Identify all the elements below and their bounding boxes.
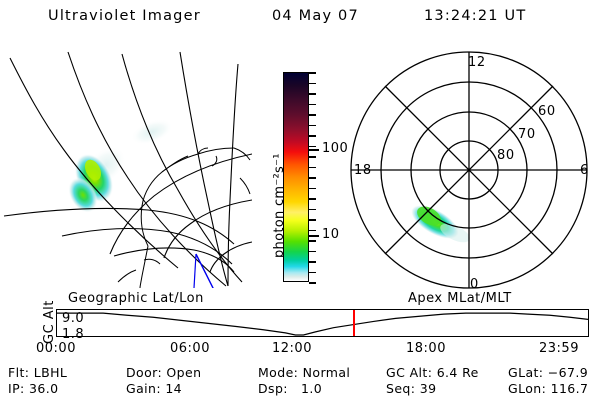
- colorbar-minor-tick: [309, 156, 316, 158]
- status-bar: Flt: LBHLDoor: OpenMode: NormalGC Alt: 6…: [8, 365, 596, 397]
- colorbar-minor-tick: [309, 114, 316, 116]
- colorbar-major-tick: [309, 235, 319, 237]
- status-field: Door: Open: [126, 365, 258, 381]
- colorbar-minor-tick: [309, 93, 316, 95]
- aurora-emission-apex: [406, 198, 473, 246]
- colorbar-minor-tick: [309, 125, 316, 127]
- status-field: GLon: 116.7: [508, 381, 588, 397]
- time-tick-label: 12:00: [272, 341, 312, 356]
- status-field: Flt: LBHL: [8, 365, 126, 381]
- aurora-emission-geographic: [62, 114, 176, 218]
- altitude-trace: [57, 313, 588, 335]
- mlt-spokes: [351, 52, 587, 288]
- colorbar-minor-tick: [309, 104, 316, 106]
- colorbar-minor-tick: [309, 167, 316, 169]
- colorbar-minor-tick: [309, 230, 316, 232]
- altitude-strip-plot[interactable]: [56, 309, 589, 337]
- status-field: Gain: 14: [126, 381, 258, 397]
- observation-time: 13:24:21 UT: [424, 8, 526, 24]
- colorbar-minor-tick: [309, 188, 316, 190]
- colorbar-minor-tick: [309, 272, 316, 274]
- geographic-image-panel[interactable]: [2, 50, 252, 288]
- uvi-display: Ultraviolet Imager 04 May 07 13:24:21 UT: [0, 0, 600, 400]
- status-field: Mode: Normal: [258, 365, 386, 381]
- colorbar-minor-tick: [309, 240, 316, 242]
- satellite-track: [196, 254, 214, 288]
- colorbar-minor-tick: [309, 251, 316, 253]
- status-row: Flt: LBHLDoor: OpenMode: NormalGC Alt: 6…: [8, 365, 596, 381]
- instrument-title: Ultraviolet Imager: [48, 8, 201, 24]
- geographic-grid: [4, 52, 252, 286]
- time-tick-label: 23:59: [539, 341, 579, 356]
- colorbar-minor-tick: [309, 282, 316, 284]
- colorbar-minor-tick: [309, 135, 316, 137]
- colorbar-minor-tick: [309, 219, 316, 221]
- colorbar-minor-tick: [309, 177, 316, 179]
- status-field: IP: 36.0: [8, 381, 126, 397]
- status-row: IP: 36.0Gain: 14Dsp: 1.0Seq: 39GLon: 116…: [8, 381, 596, 397]
- time-tick-label: 18:00: [406, 341, 446, 356]
- colorbar-minor-tick: [309, 72, 316, 74]
- colorbar-tick-label: 10: [322, 227, 340, 242]
- satellite-track-secondary: [194, 254, 196, 288]
- apex-mlat-mlt-panel[interactable]: [345, 50, 595, 290]
- colorbar-major-tick: [309, 149, 319, 151]
- colorbar-minor-tick: [309, 83, 316, 85]
- colorbar-minor-tick: [309, 261, 316, 263]
- strip-title-geographic: Geographic Lat/Lon: [68, 291, 204, 306]
- status-field: GC Alt: 6.4 Re: [386, 365, 508, 381]
- status-field: Seq: 39: [386, 381, 508, 397]
- strip-title-apex: Apex MLat/MLT: [408, 291, 512, 306]
- observation-date: 04 May 07: [272, 8, 359, 24]
- current-time-marker: [353, 310, 355, 336]
- header-bar: Ultraviolet Imager 04 May 07 13:24:21 UT: [0, 8, 600, 32]
- colorbar-gradient: [284, 73, 308, 281]
- status-field: Dsp: 1.0: [258, 381, 386, 397]
- altitude-curve-area: [57, 310, 588, 336]
- time-tick-label: 06:00: [170, 341, 210, 356]
- altitude-axis-label: GC Alt: [28, 300, 46, 344]
- status-field: GLat: −67.9: [508, 365, 588, 381]
- colorbar-axis-label: photon cm⁻²s⁻¹: [256, 130, 276, 260]
- colorbar-minor-tick: [309, 198, 316, 200]
- colorbar: [283, 72, 309, 282]
- colorbar-minor-tick: [309, 209, 316, 211]
- colorbar-minor-tick: [309, 146, 316, 148]
